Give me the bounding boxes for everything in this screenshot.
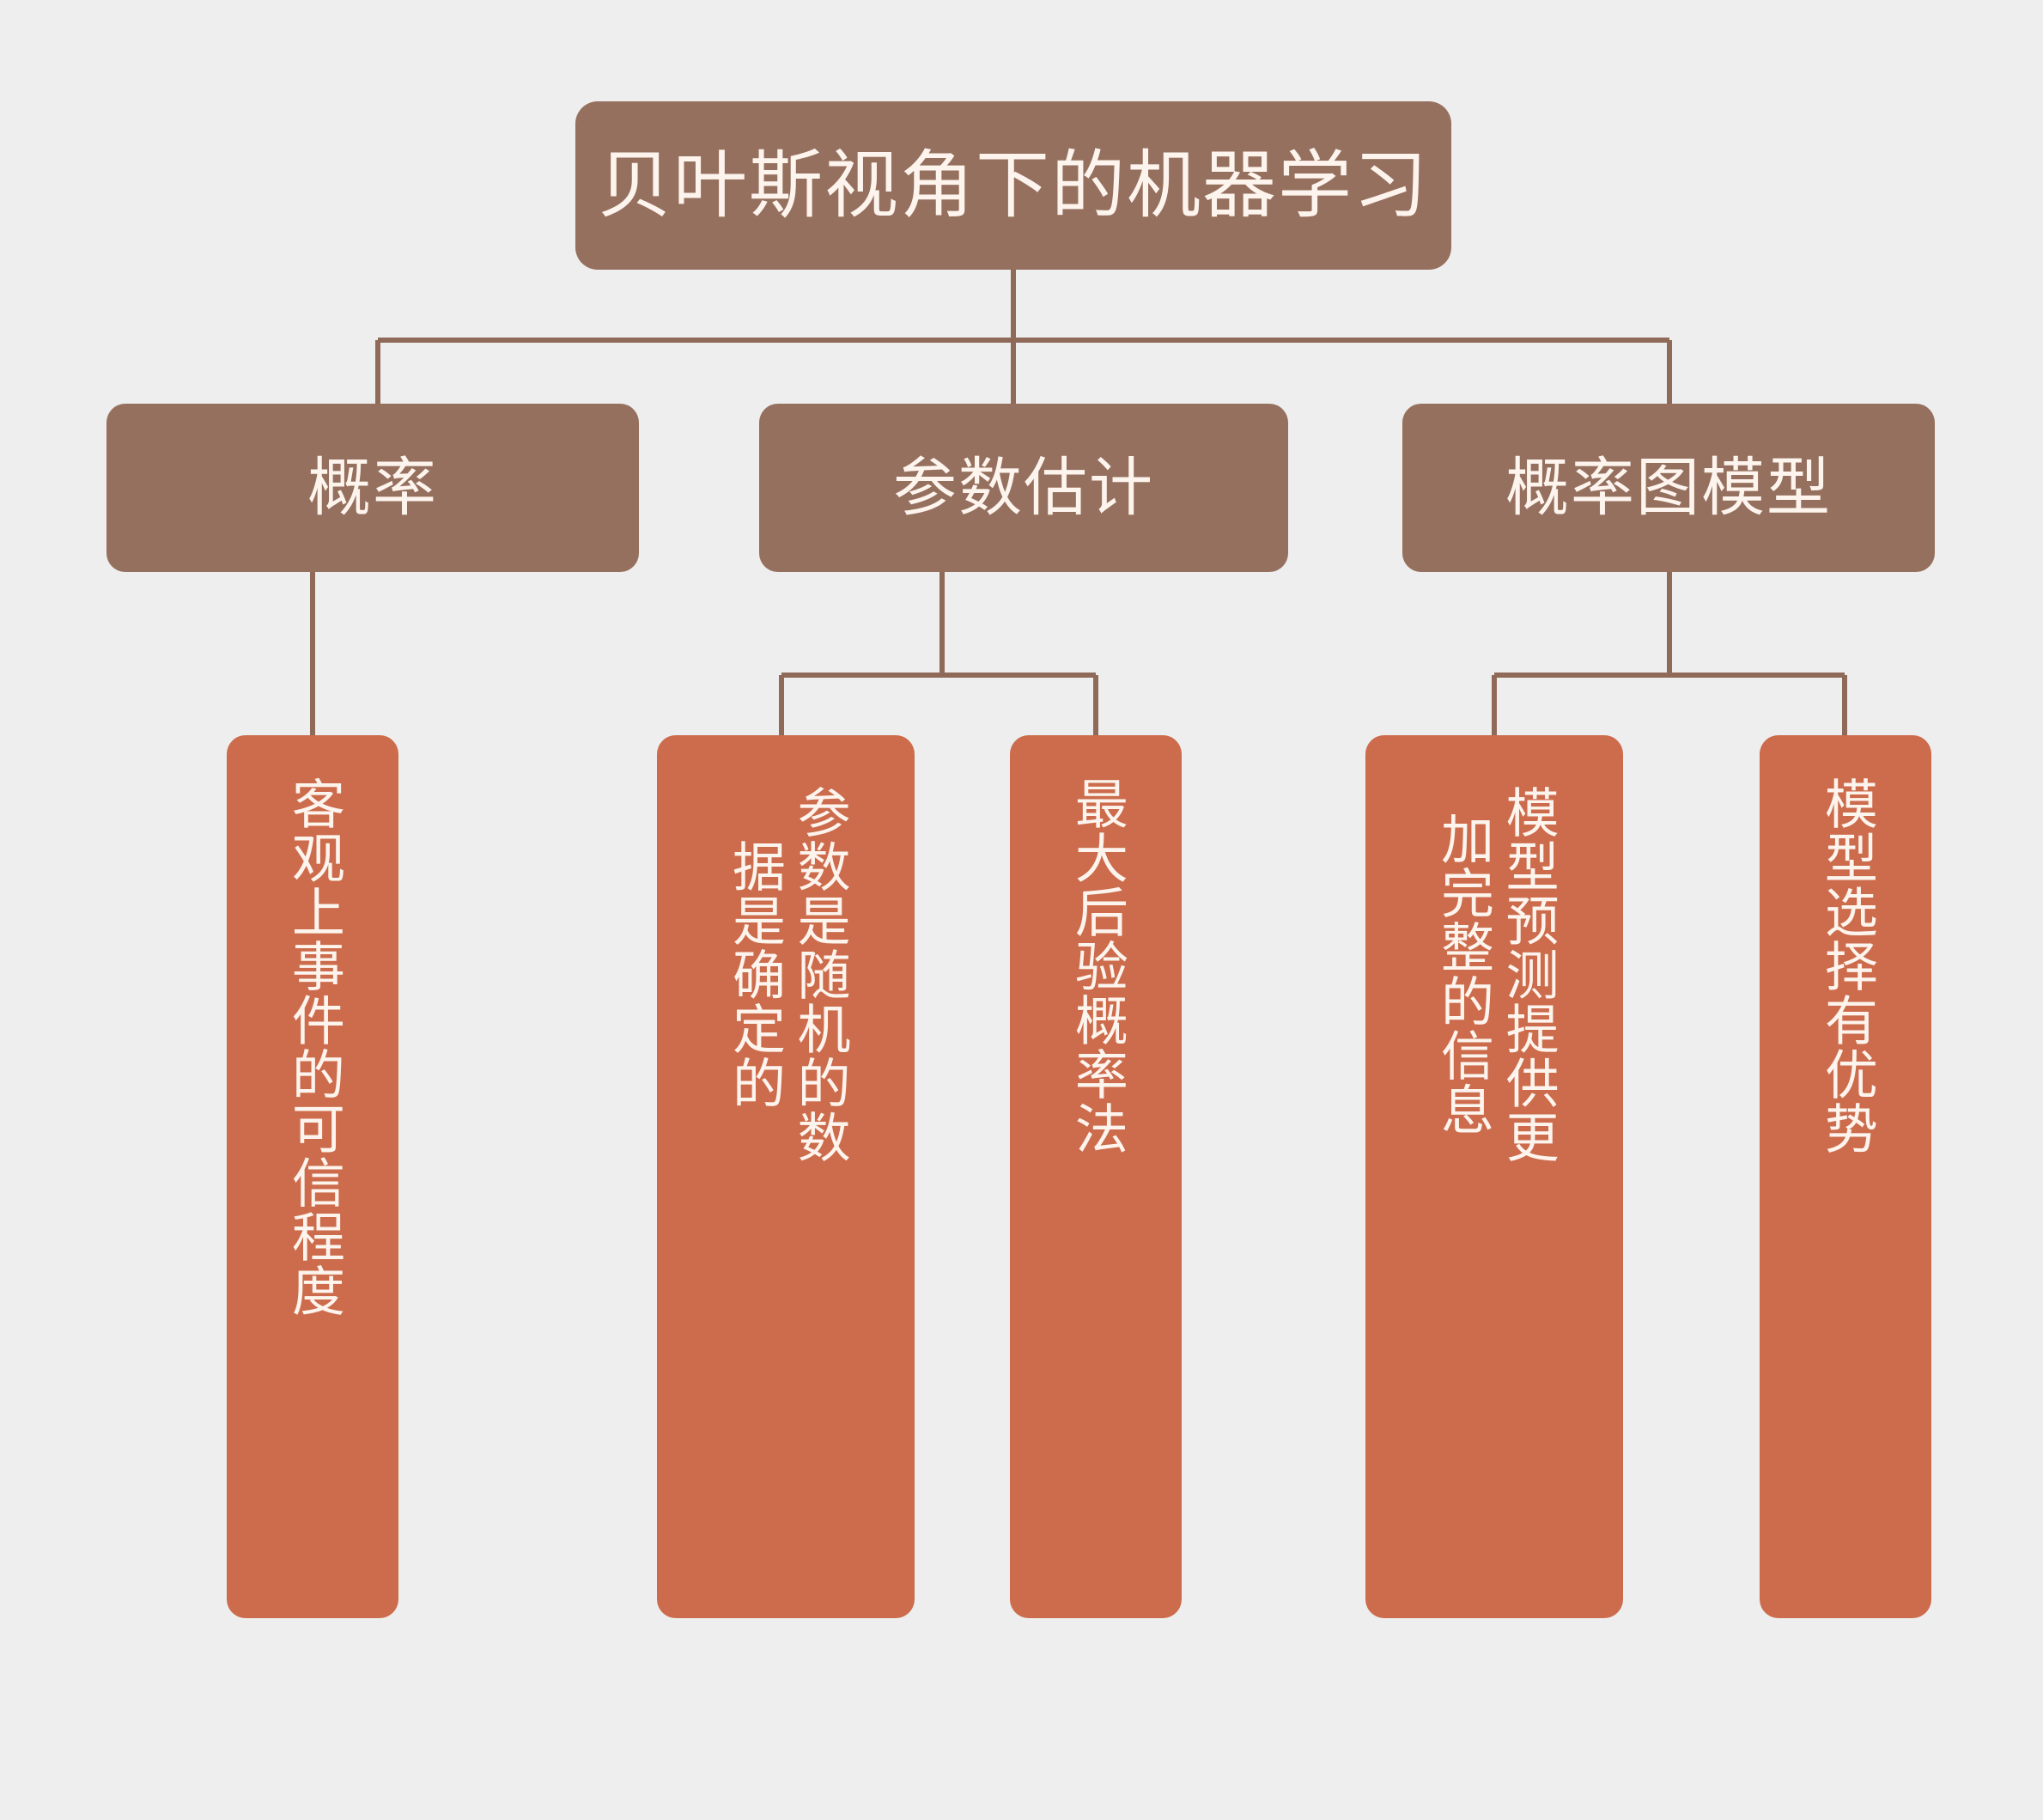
node-branch-graphical-model-label: 概率图模型 [1505,451,1832,524]
node-branch-probability-label: 概率 [307,451,438,524]
node-leaf-credibility-label: 客观上事件的可信程度 [280,776,345,1318]
node-leaf-map-method-label: 最大后验概率法 [1063,776,1128,1155]
node-branch-parameter-estimation[interactable]: 参数估计 [759,404,1288,572]
node-root-label: 贝叶斯视角下的机器学习 [598,143,1429,228]
node-leaf-credibility[interactable]: 客观上事件的可信程度 [227,735,398,1618]
node-branch-probability[interactable]: 概率 [106,404,639,572]
node-branch-parameter-estimation-label: 参数估计 [893,451,1154,524]
node-leaf-random-params-label: 参数是随机的数据是确定的 [721,776,850,1172]
node-root[interactable]: 贝叶斯视角下的机器学习 [575,101,1451,270]
node-leaf-model-selection-label: 模型选择有优势 [1813,776,1878,1155]
node-leaf-complete-info[interactable]: 模型预测提供更加完整的信息 [1365,735,1623,1618]
node-leaf-random-params[interactable]: 参数是随机的数据是确定的 [657,735,915,1618]
node-leaf-map-method[interactable]: 最大后验概率法 [1010,735,1182,1618]
node-leaf-complete-info-label: 模型预测提供更加完整的信息 [1429,776,1559,1172]
node-branch-graphical-model[interactable]: 概率图模型 [1402,404,1935,572]
mindmap-diagram: 贝叶斯视角下的机器学习 概率 参数估计 概率图模型 客观上事件的可信程度 参数是… [0,0,2043,1820]
node-leaf-model-selection[interactable]: 模型选择有优势 [1760,735,1931,1618]
